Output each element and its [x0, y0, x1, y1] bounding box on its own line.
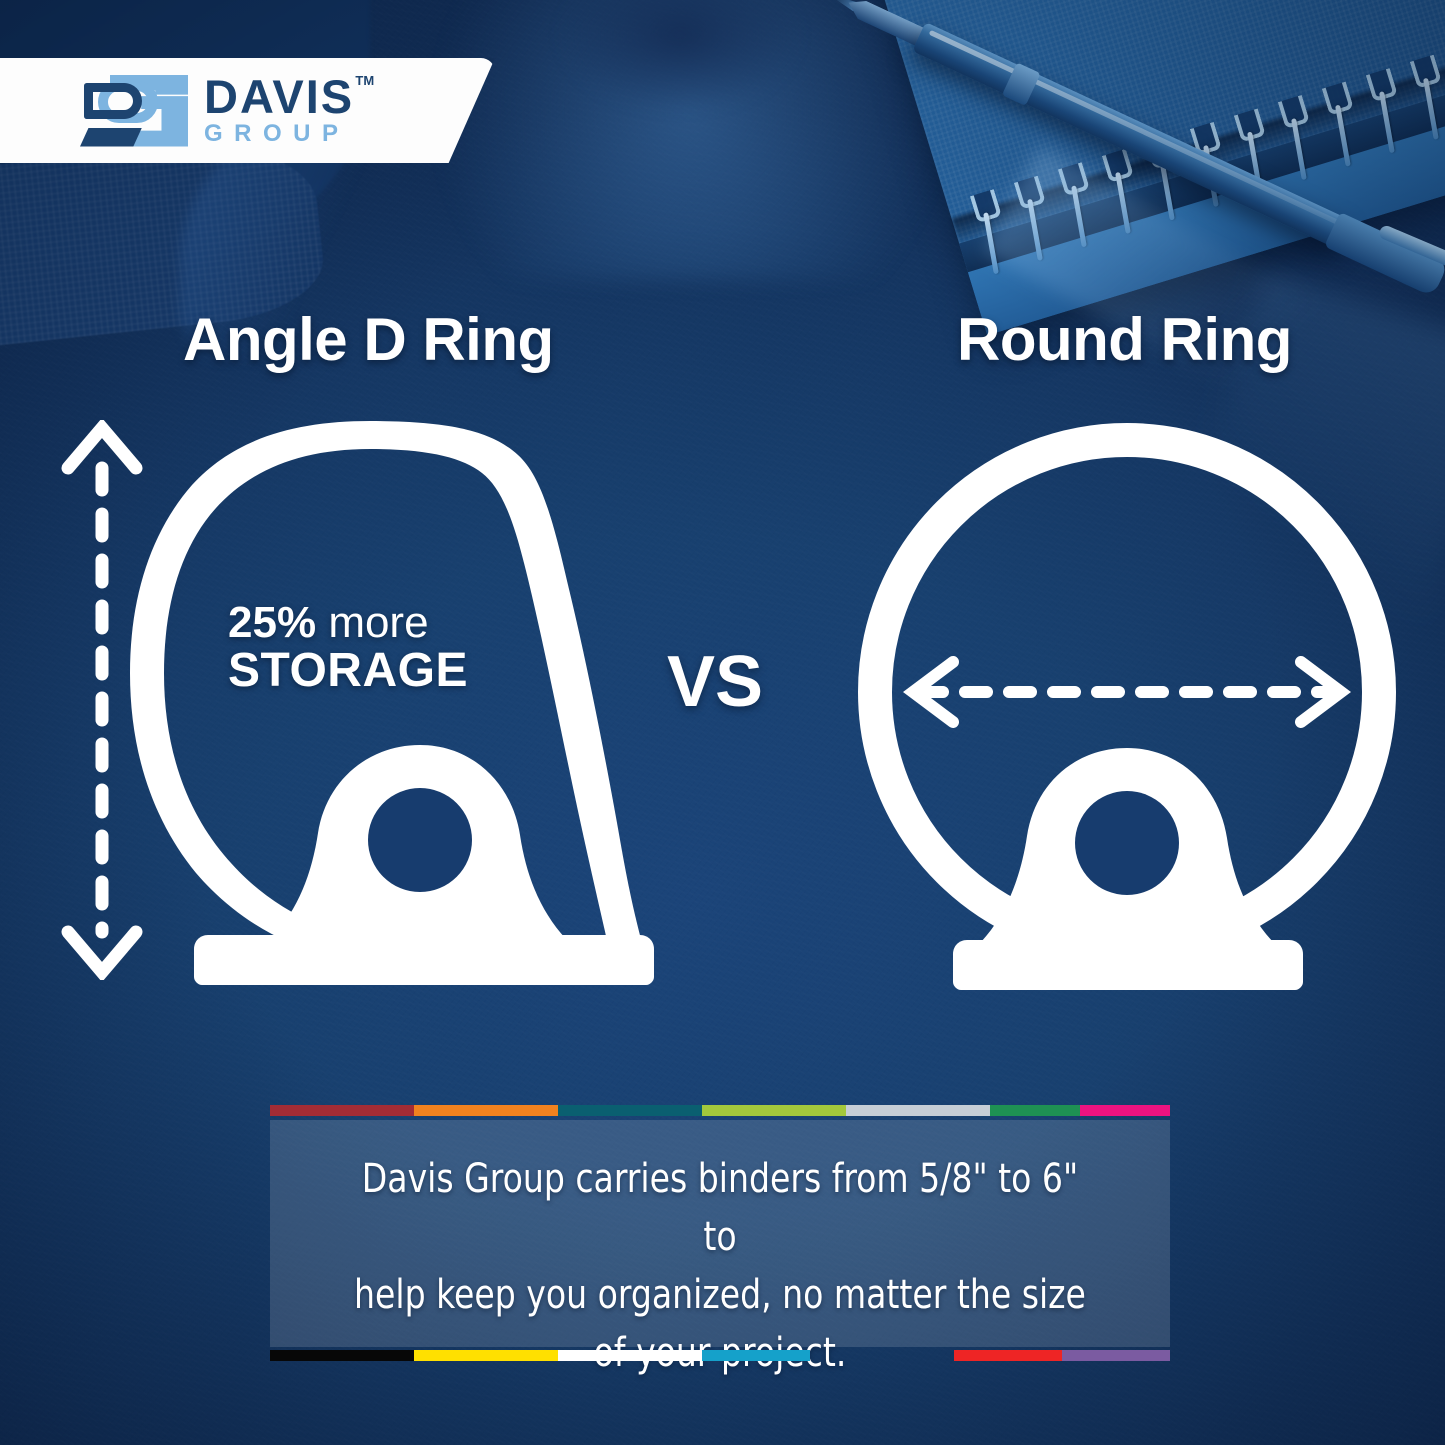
callout-line-2: help keep you organized, no matter the s… [352, 1266, 1088, 1324]
color-swatch-bar-top [270, 1105, 1170, 1116]
storage-badge-number: 25% [228, 598, 316, 647]
swatch [558, 1105, 702, 1116]
swatch [1080, 1105, 1170, 1116]
swatch [990, 1105, 1080, 1116]
swatch [702, 1350, 810, 1361]
swatch [1062, 1350, 1170, 1361]
versus-label: VS [667, 641, 763, 723]
callout-text: Davis Group carries binders from 5/8" to… [352, 1150, 1088, 1382]
swatch [846, 1105, 990, 1116]
swatch [558, 1350, 702, 1361]
storage-badge: 25% more STORAGE [228, 600, 488, 697]
dg-monogram-icon [76, 75, 188, 147]
brand-name-primary-text: DAVIS [204, 70, 354, 123]
storage-badge-word: more [328, 598, 428, 647]
trademark-mark: TM [355, 75, 374, 87]
callout-line-1: Davis Group carries binders from 5/8" to… [352, 1150, 1088, 1266]
swatch [702, 1105, 846, 1116]
left-product-heading: Angle D Ring [183, 305, 554, 374]
round-ring-diagram [855, 400, 1400, 990]
infographic-canvas: DAVIS TM GROUP Angle D Ring Round Ring 2… [0, 0, 1445, 1445]
storage-badge-emphasis: STORAGE [228, 646, 488, 696]
right-product-heading: Round Ring [957, 305, 1292, 374]
brand-name-primary: DAVIS TM [204, 75, 354, 120]
callout-panel: Davis Group carries binders from 5/8" to… [270, 1120, 1170, 1347]
swatch [414, 1350, 558, 1361]
brand-name-secondary: GROUP [204, 122, 354, 146]
color-swatch-bar-bottom [270, 1350, 1170, 1361]
swatch [270, 1350, 414, 1361]
swatch [414, 1105, 558, 1116]
swatch [270, 1105, 414, 1116]
brand-logo-banner: DAVIS TM GROUP [0, 58, 495, 163]
swatch-gap [810, 1350, 954, 1361]
swatch [954, 1350, 1062, 1361]
angle-d-ring-diagram [120, 415, 680, 985]
